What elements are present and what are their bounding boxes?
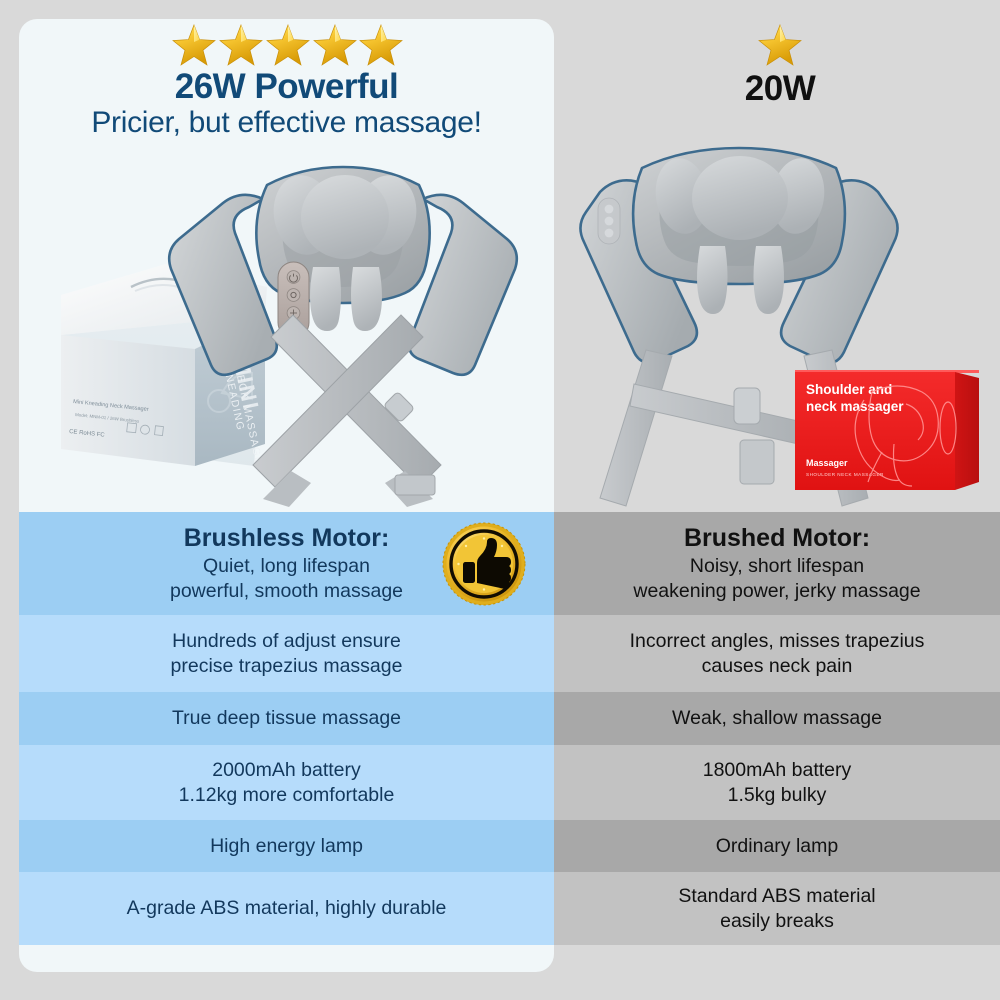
table-row: Brushless Motor: Quiet, long lifespan po… <box>19 512 554 615</box>
right-title: 20W <box>570 69 990 109</box>
row-line: Incorrect angles, misses trapezius <box>630 629 925 654</box>
table-row: Hundreds of adjust ensure precise trapez… <box>19 615 554 692</box>
table-row: 1800mAh battery 1.5kg bulky <box>554 745 1000 820</box>
table-row: High energy lamp <box>19 820 554 872</box>
row-title: Brushless Motor: <box>184 523 390 553</box>
row-line: A-grade ABS material, highly durable <box>127 896 447 921</box>
table-row: Weak, shallow massage <box>554 692 1000 745</box>
right-packaging-box: Shoulder and neck massager Massager SHOU… <box>795 370 979 490</box>
comparison-infographic: MINI KNEADING NECK MASSAGER Mini Kneadin… <box>0 0 1000 1000</box>
row-line: Standard ABS material <box>678 884 875 909</box>
row-title: Brushed Motor: <box>684 523 870 553</box>
row-line: precise trapezius massage <box>171 654 403 679</box>
svg-text:neck massager: neck massager <box>806 399 904 414</box>
row-line: 1.12kg more comfortable <box>179 783 395 808</box>
gold-thumbs-up-badge-icon <box>442 522 526 606</box>
right-star-rating <box>570 22 990 66</box>
row-line: Noisy, short lifespan <box>690 554 864 579</box>
row-line: easily breaks <box>720 909 834 934</box>
row-line: 2000mAh battery <box>212 758 361 783</box>
table-row: True deep tissue massage <box>19 692 554 745</box>
table-row: A-grade ABS material, highly durable <box>19 872 554 945</box>
svg-text:Massager: Massager <box>806 458 848 468</box>
row-line: True deep tissue massage <box>172 706 401 731</box>
row-line: weakening power, jerky massage <box>633 579 920 604</box>
row-line: Quiet, long lifespan <box>203 554 370 579</box>
table-row: Incorrect angles, misses trapezius cause… <box>554 615 1000 692</box>
row-line: 1.5kg bulky <box>728 783 827 808</box>
right-control-panel <box>598 198 620 244</box>
right-header: 20W <box>570 22 990 109</box>
row-line: Weak, shallow massage <box>672 706 882 731</box>
left-feature-table: Brushless Motor: Quiet, long lifespan po… <box>19 512 554 945</box>
row-line: causes neck pain <box>702 654 853 679</box>
row-line: High energy lamp <box>210 834 363 859</box>
table-row: Brushed Motor: Noisy, short lifespan wea… <box>554 512 1000 615</box>
left-product-photo: MINI KNEADING NECK MASSAGER Mini Kneadin… <box>19 19 554 512</box>
row-line: Ordinary lamp <box>716 834 838 859</box>
right-feature-table: Brushed Motor: Noisy, short lifespan wea… <box>554 512 1000 945</box>
row-line: Hundreds of adjust ensure <box>172 629 401 654</box>
table-row: 2000mAh battery 1.12kg more comfortable <box>19 745 554 820</box>
row-line: 1800mAh battery <box>703 758 852 783</box>
row-line: powerful, smooth massage <box>170 579 403 604</box>
table-row: Ordinary lamp <box>554 820 1000 872</box>
table-row: Standard ABS material easily breaks <box>554 872 1000 945</box>
svg-text:SHOULDER NECK MASSAGER: SHOULDER NECK MASSAGER <box>806 472 884 477</box>
